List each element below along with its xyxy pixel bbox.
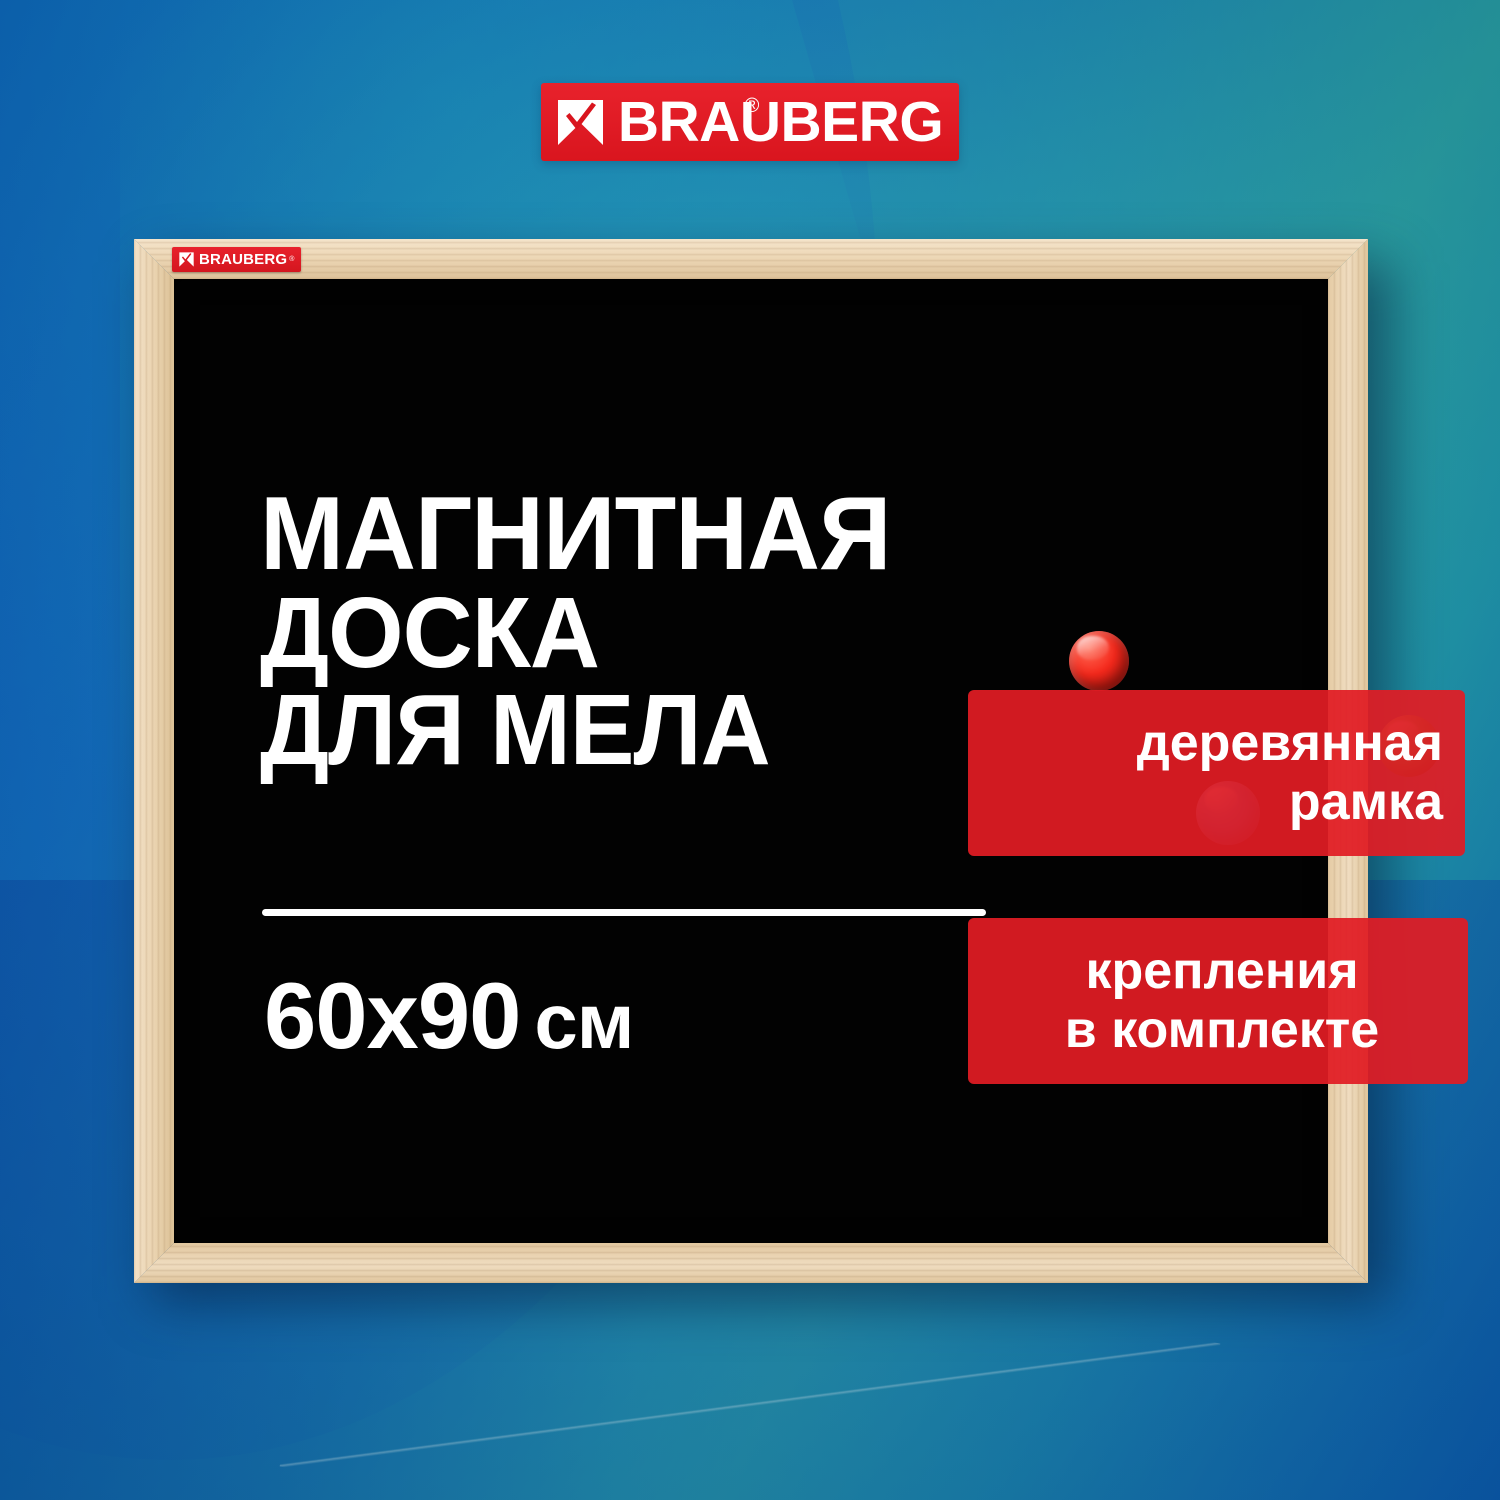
- badge-line-1: крепления: [998, 942, 1446, 1001]
- brand-wordmark: BRAUBERG: [618, 94, 943, 151]
- headline-line-2: ДОСКА: [260, 585, 978, 682]
- registered-mark: ®: [745, 95, 760, 118]
- badge-line-2: рамка: [998, 773, 1443, 832]
- sticker-wordmark: BRAUBERG: [199, 252, 287, 267]
- headline-line-3: ДЛЯ МЕЛА: [260, 682, 978, 779]
- badge-line-2: в комплекте: [998, 1001, 1446, 1060]
- divider-rule: [262, 909, 986, 916]
- badge-wooden-frame: деревянная рамка: [968, 690, 1465, 856]
- size-value: 60x90: [264, 963, 520, 1068]
- wooden-frame-left: [134, 239, 174, 1283]
- headline-line-1: МАГНИТНАЯ: [260, 484, 978, 585]
- checkmark-icon: [557, 99, 604, 146]
- headline-block: МАГНИТНАЯ ДОСКА ДЛЯ МЕЛА: [260, 484, 1000, 779]
- badge-mounts-included: крепления в комплекте: [968, 918, 1468, 1084]
- sticker-registered-mark: ®: [289, 256, 294, 263]
- frame-brand-sticker: BRAUBERG ®: [172, 247, 301, 272]
- badge-line-1: деревянная: [998, 714, 1443, 773]
- size-unit: см: [534, 977, 633, 1065]
- size-label: 60x90см: [264, 969, 634, 1063]
- checkmark-icon: [179, 252, 194, 267]
- promo-image-canvas: BRAUBERG ® МАГНИТНАЯ ДОСКА ДЛЯ МЕЛА 60x9…: [0, 0, 1500, 1500]
- brand-logo: BRAUBERG ®: [541, 83, 959, 161]
- wooden-frame-top: [134, 239, 1368, 279]
- wooden-frame-bottom: [134, 1243, 1368, 1283]
- magnet-red: [1069, 631, 1129, 691]
